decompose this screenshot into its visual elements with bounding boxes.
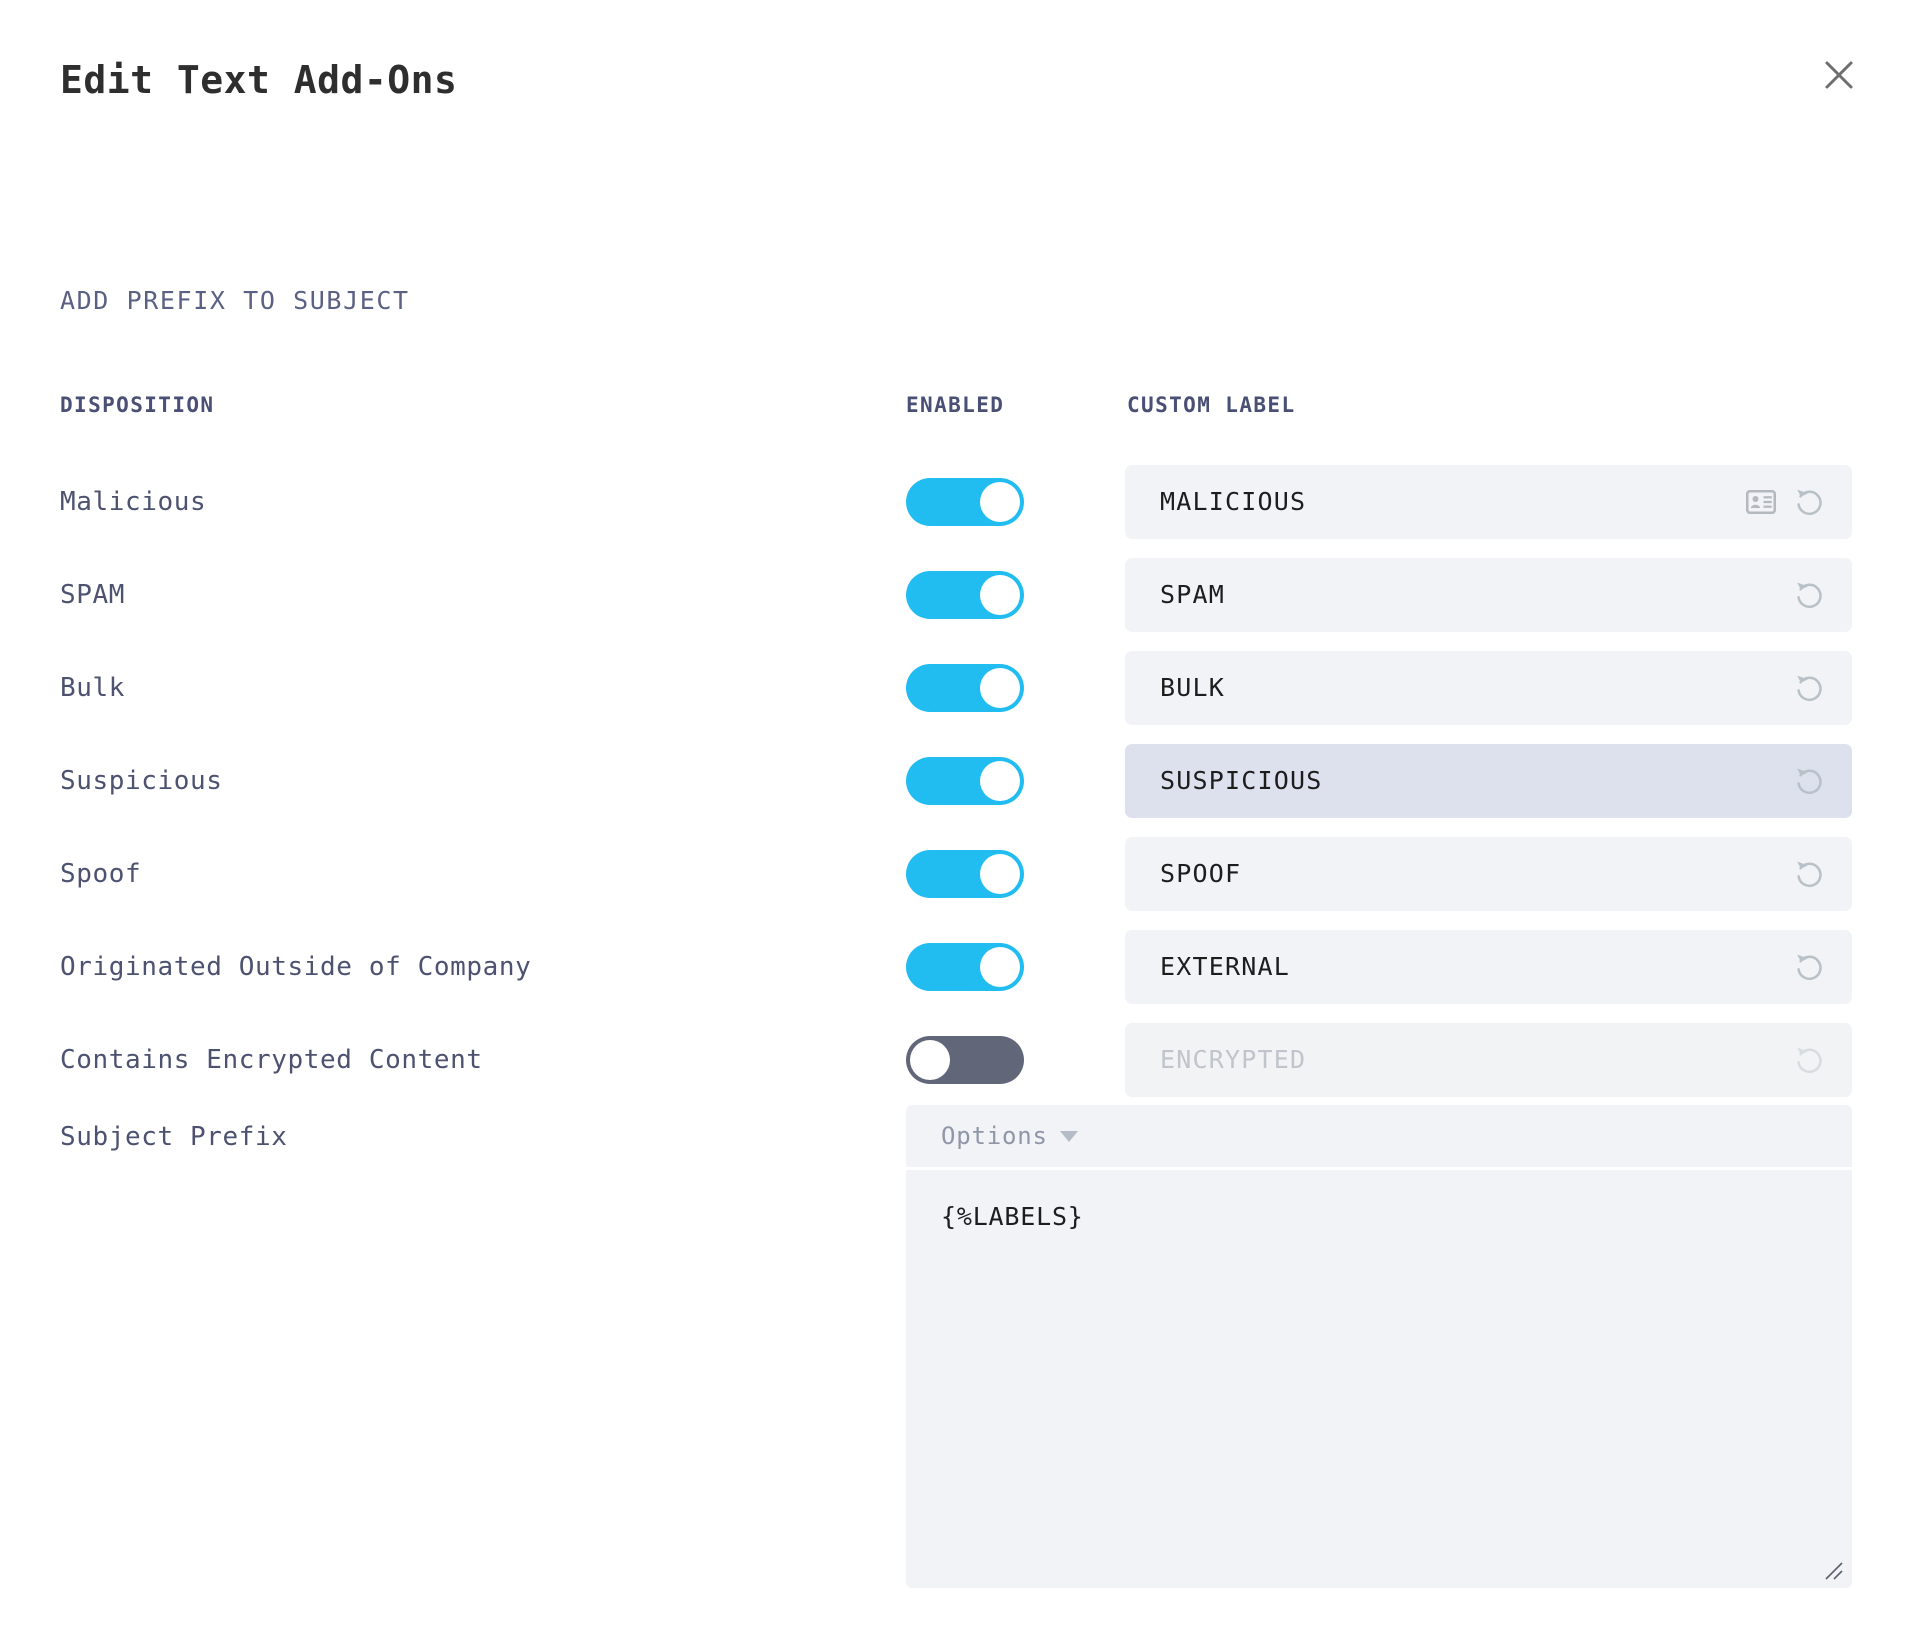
disposition-label: Contains Encrypted Content [60,1045,483,1075]
subject-prefix-textarea[interactable]: {%LABELS} [906,1170,1852,1588]
dialog-header: Edit Text Add-Ons [0,0,1908,150]
enabled-toggle[interactable] [906,478,1024,526]
table-row: Contains Encrypted ContentENCRYPTED [0,1013,1908,1106]
reset-icon[interactable] [1792,950,1826,984]
toggle-knob [980,854,1020,894]
field-icon-group [1792,578,1826,612]
options-dropdown[interactable]: Options [906,1105,1852,1167]
options-dropdown-label: Options [941,1122,1048,1150]
custom-label-value: EXTERNAL [1160,952,1290,981]
disposition-label: Originated Outside of Company [60,952,531,982]
disposition-label: Spoof [60,859,141,889]
enabled-toggle[interactable] [906,850,1024,898]
custom-label-input[interactable]: MALICIOUS [1125,465,1852,539]
contact-card-icon[interactable] [1746,490,1776,514]
disposition-label: Bulk [60,673,125,703]
table-row: SPAMSPAM [0,548,1908,641]
toggle-knob [980,947,1020,987]
subject-prefix-textarea-value: {%LABELS} [941,1202,1084,1231]
toggle-knob [980,668,1020,708]
column-header-custom-label: CUSTOM LABEL [1127,393,1296,417]
table-row: SpoofSPOOF [0,827,1908,920]
disposition-label: Malicious [60,487,206,517]
reset-icon[interactable] [1792,857,1826,891]
custom-label-input: ENCRYPTED [1125,1023,1852,1097]
custom-label-value: SPAM [1160,580,1225,609]
section-heading: ADD PREFIX TO SUBJECT [60,286,410,315]
enabled-toggle[interactable] [906,1036,1024,1084]
subject-prefix-label: Subject Prefix [60,1122,288,1152]
custom-label-input[interactable]: SPOOF [1125,837,1852,911]
field-icon-group [1792,857,1826,891]
reset-icon[interactable] [1792,485,1826,519]
custom-label-value: SUSPICIOUS [1160,766,1323,795]
toggle-knob [980,761,1020,801]
custom-label-input[interactable]: EXTERNAL [1125,930,1852,1004]
table-row: BulkBULK [0,641,1908,734]
resize-handle-icon[interactable] [1823,1560,1845,1582]
column-header-disposition: DISPOSITION [60,393,214,417]
reset-icon [1792,1043,1826,1077]
toggle-knob [980,575,1020,615]
enabled-toggle[interactable] [906,943,1024,991]
field-icon-group [1746,485,1826,519]
toggle-knob [910,1040,950,1080]
close-icon [1822,58,1856,92]
reset-icon[interactable] [1792,671,1826,705]
reset-icon[interactable] [1792,578,1826,612]
reset-icon[interactable] [1792,764,1826,798]
enabled-toggle[interactable] [906,757,1024,805]
table-row: MaliciousMALICIOUS [0,455,1908,548]
custom-label-value: MALICIOUS [1160,487,1306,516]
disposition-label: Suspicious [60,766,223,796]
column-header-enabled: ENABLED [906,393,1004,417]
table-row: SuspiciousSUSPICIOUS [0,734,1908,827]
field-icon-group [1792,764,1826,798]
field-icon-group [1792,671,1826,705]
page-title: Edit Text Add-Ons [60,58,457,102]
custom-label-input[interactable]: BULK [1125,651,1852,725]
chevron-down-icon [1060,1131,1078,1142]
custom-label-value: ENCRYPTED [1160,1045,1306,1074]
toggle-knob [980,482,1020,522]
custom-label-input[interactable]: SPAM [1125,558,1852,632]
custom-label-input[interactable]: SUSPICIOUS [1125,744,1852,818]
field-icon-group [1792,950,1826,984]
enabled-toggle[interactable] [906,571,1024,619]
custom-label-value: SPOOF [1160,859,1241,888]
custom-label-value: BULK [1160,673,1225,702]
enabled-toggle[interactable] [906,664,1024,712]
disposition-rows: MaliciousMALICIOUSSPAMSPAMBulkBULKSuspic… [0,455,1908,1106]
close-button[interactable] [1812,48,1866,102]
field-icon-group [1792,1043,1826,1077]
disposition-label: SPAM [60,580,125,610]
table-row: Originated Outside of CompanyEXTERNAL [0,920,1908,1013]
